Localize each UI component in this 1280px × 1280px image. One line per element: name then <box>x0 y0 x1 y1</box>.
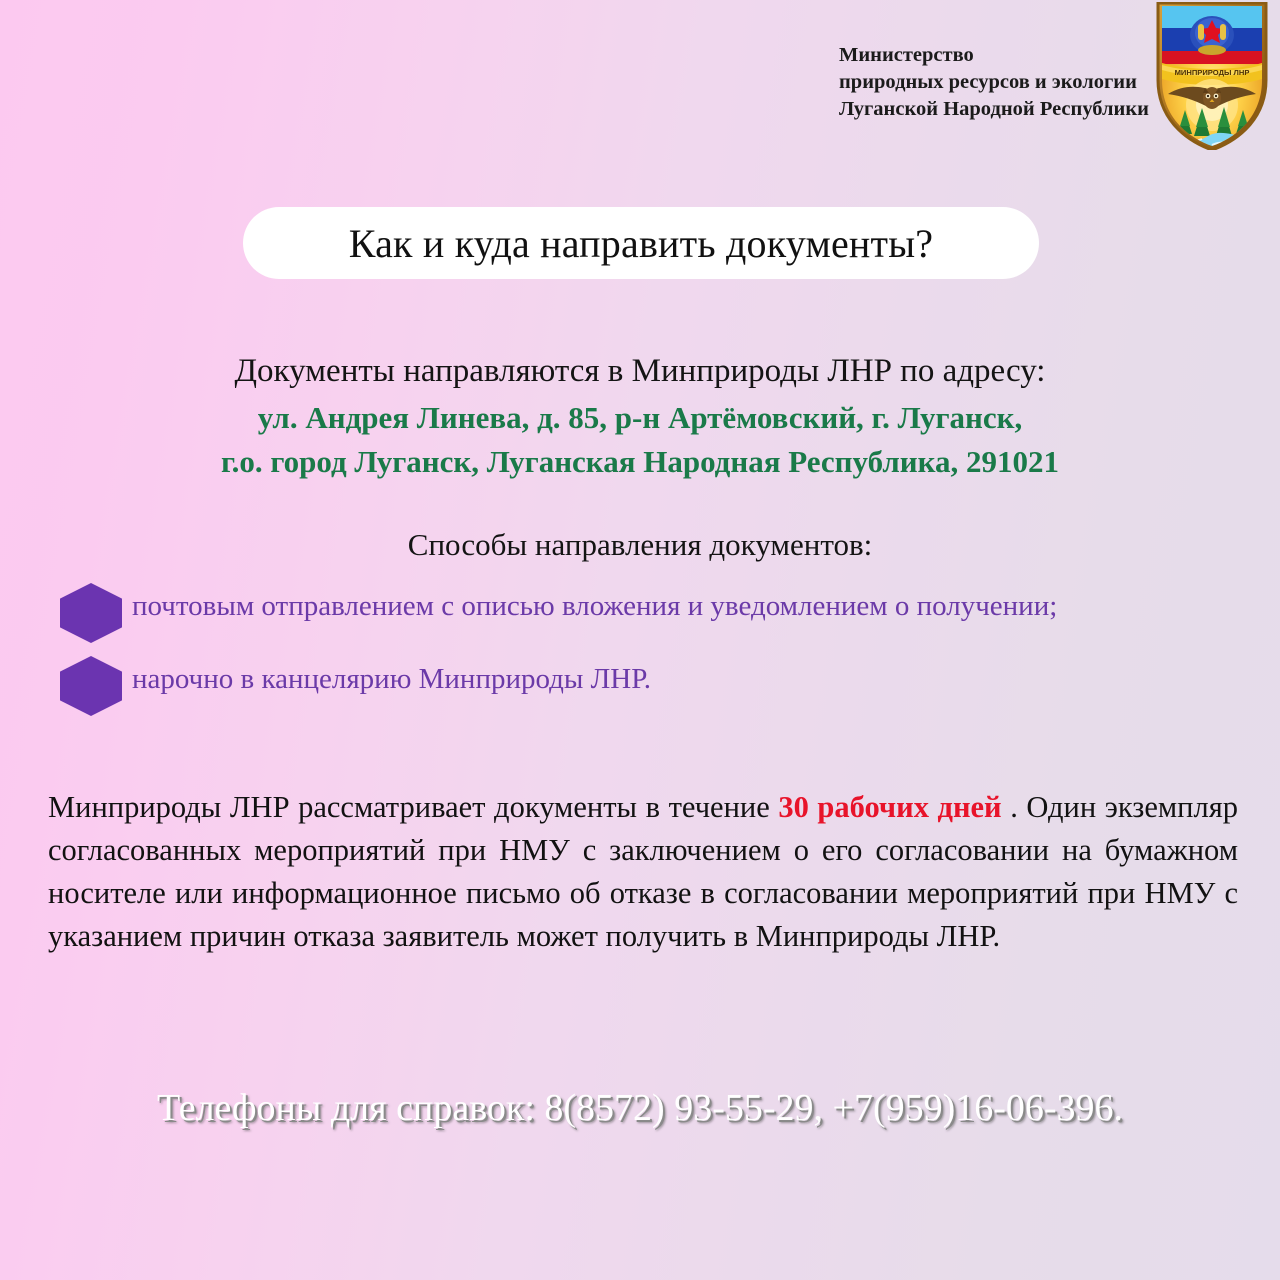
address-block: Документы направляются в Минприроды ЛНР … <box>0 348 1280 485</box>
page-title-pill: Как и куда направить документы? <box>243 207 1039 279</box>
page-header: Министерство природных ресурсов и эколог… <box>0 0 1280 160</box>
svg-text:МИНПРИРОДЫ ЛНР: МИНПРИРОДЫ ЛНР <box>1175 68 1250 77</box>
ministry-line-3: Луганской Народной Республики <box>839 96 1149 123</box>
review-term-highlight: 30 рабочих дней <box>778 790 1001 824</box>
method-label: нарочно в канцелярию Минприроды ЛНР. <box>132 656 651 703</box>
page-title: Как и куда направить документы? <box>349 220 933 267</box>
hexagon-bullet-icon <box>60 583 122 643</box>
list-item: почтовым отправлением с описью вложения … <box>0 583 1280 643</box>
method-label: почтовым отправлением с описью вложения … <box>132 583 1057 630</box>
ministry-line-1: Министерство <box>839 42 1149 69</box>
methods-list: почтовым отправлением с описью вложения … <box>0 583 1280 716</box>
contact-phones: Телефоны для справок: 8(8572) 93-55-29, … <box>0 1086 1280 1130</box>
address-line-1: ул. Андрея Линева, д. 85, р-н Артёмовски… <box>0 396 1280 441</box>
ministry-line-2: природных ресурсов и экологии <box>839 69 1149 96</box>
ministry-title: Министерство природных ресурсов и эколог… <box>839 0 1149 123</box>
address-lead: Документы направляются в Минприроды ЛНР … <box>0 348 1280 396</box>
hexagon-bullet-icon <box>60 656 122 716</box>
methods-heading: Способы направления документов: <box>0 527 1280 563</box>
address-line-2: г.о. город Луганск, Луганская Народная Р… <box>0 440 1280 485</box>
ministry-emblem-icon: МИНПРИРОДЫ ЛНР <box>1156 2 1268 150</box>
list-item: нарочно в канцелярию Минприроды ЛНР. <box>0 656 1280 716</box>
review-term-paragraph: Минприроды ЛНР рассматривает документы в… <box>48 786 1238 958</box>
paragraph-part-1: Минприроды ЛНР рассматривает документы в… <box>48 790 778 824</box>
